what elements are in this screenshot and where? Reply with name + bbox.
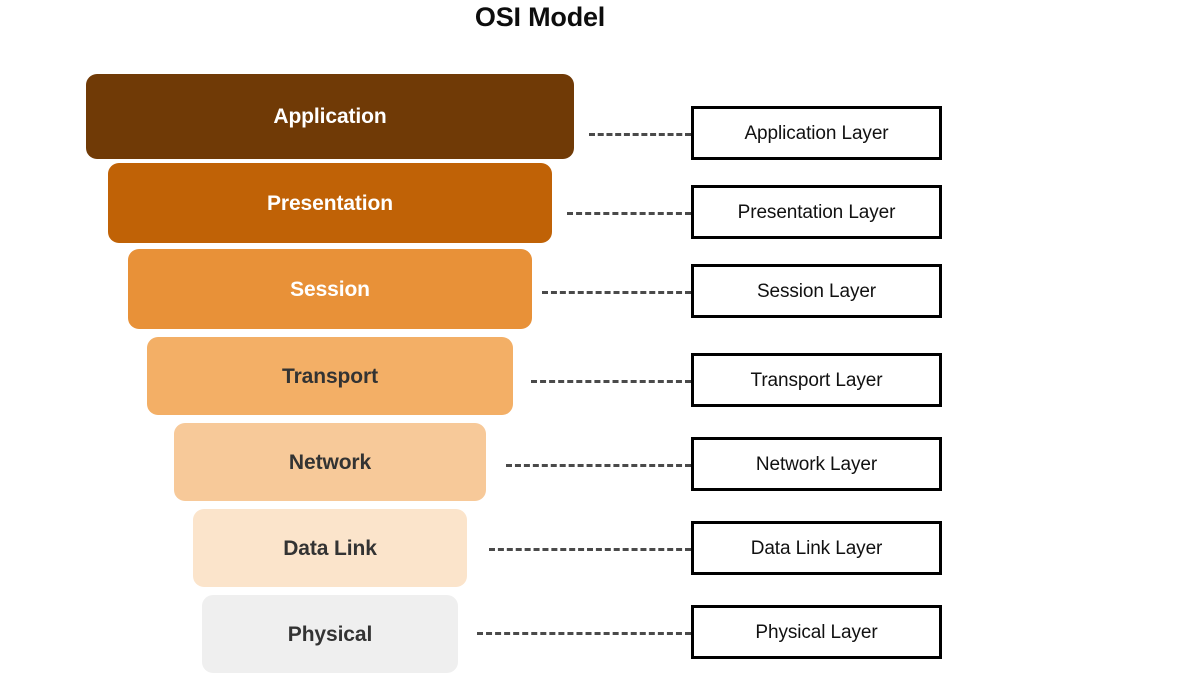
side-box-session[interactable]: Session Layer [691,264,942,318]
layer-bar-label-presentation: Presentation [267,193,393,214]
osi-model-diagram: OSI Model ApplicationPresentationSession… [0,0,1200,680]
layer-bar-label-network: Network [289,452,371,473]
connector-line-application [589,133,691,136]
layer-bar-session[interactable]: Session [128,249,532,329]
side-box-label-transport: Transport Layer [751,371,883,390]
layer-bar-label-application: Application [273,106,386,127]
side-box-data-link[interactable]: Data Link Layer [691,521,942,575]
side-box-application[interactable]: Application Layer [691,106,942,160]
connector-line-transport [531,380,691,383]
page-title: OSI Model [0,2,1080,33]
layer-bar-label-data-link: Data Link [283,538,377,559]
layer-bar-application[interactable]: Application [86,74,574,159]
side-box-network[interactable]: Network Layer [691,437,942,491]
layer-bar-transport[interactable]: Transport [147,337,513,415]
connector-line-physical [477,632,691,635]
connector-line-data-link [489,548,691,551]
layer-bar-presentation[interactable]: Presentation [108,163,552,243]
connector-line-network [506,464,691,467]
layer-bar-label-transport: Transport [282,366,378,387]
side-box-presentation[interactable]: Presentation Layer [691,185,942,239]
side-box-label-presentation: Presentation Layer [738,203,896,222]
layer-bar-label-physical: Physical [288,624,372,645]
connector-line-session [542,291,691,294]
layer-bar-data-link[interactable]: Data Link [193,509,467,587]
side-box-label-physical: Physical Layer [755,623,877,642]
side-box-label-session: Session Layer [757,282,876,301]
side-box-label-network: Network Layer [756,455,877,474]
connector-line-presentation [567,212,691,215]
layer-bar-label-session: Session [290,279,370,300]
side-box-transport[interactable]: Transport Layer [691,353,942,407]
layer-bar-network[interactable]: Network [174,423,486,501]
side-box-label-data-link: Data Link Layer [751,539,883,558]
side-box-physical[interactable]: Physical Layer [691,605,942,659]
side-box-label-application: Application Layer [744,124,888,143]
layer-bar-physical[interactable]: Physical [202,595,458,673]
